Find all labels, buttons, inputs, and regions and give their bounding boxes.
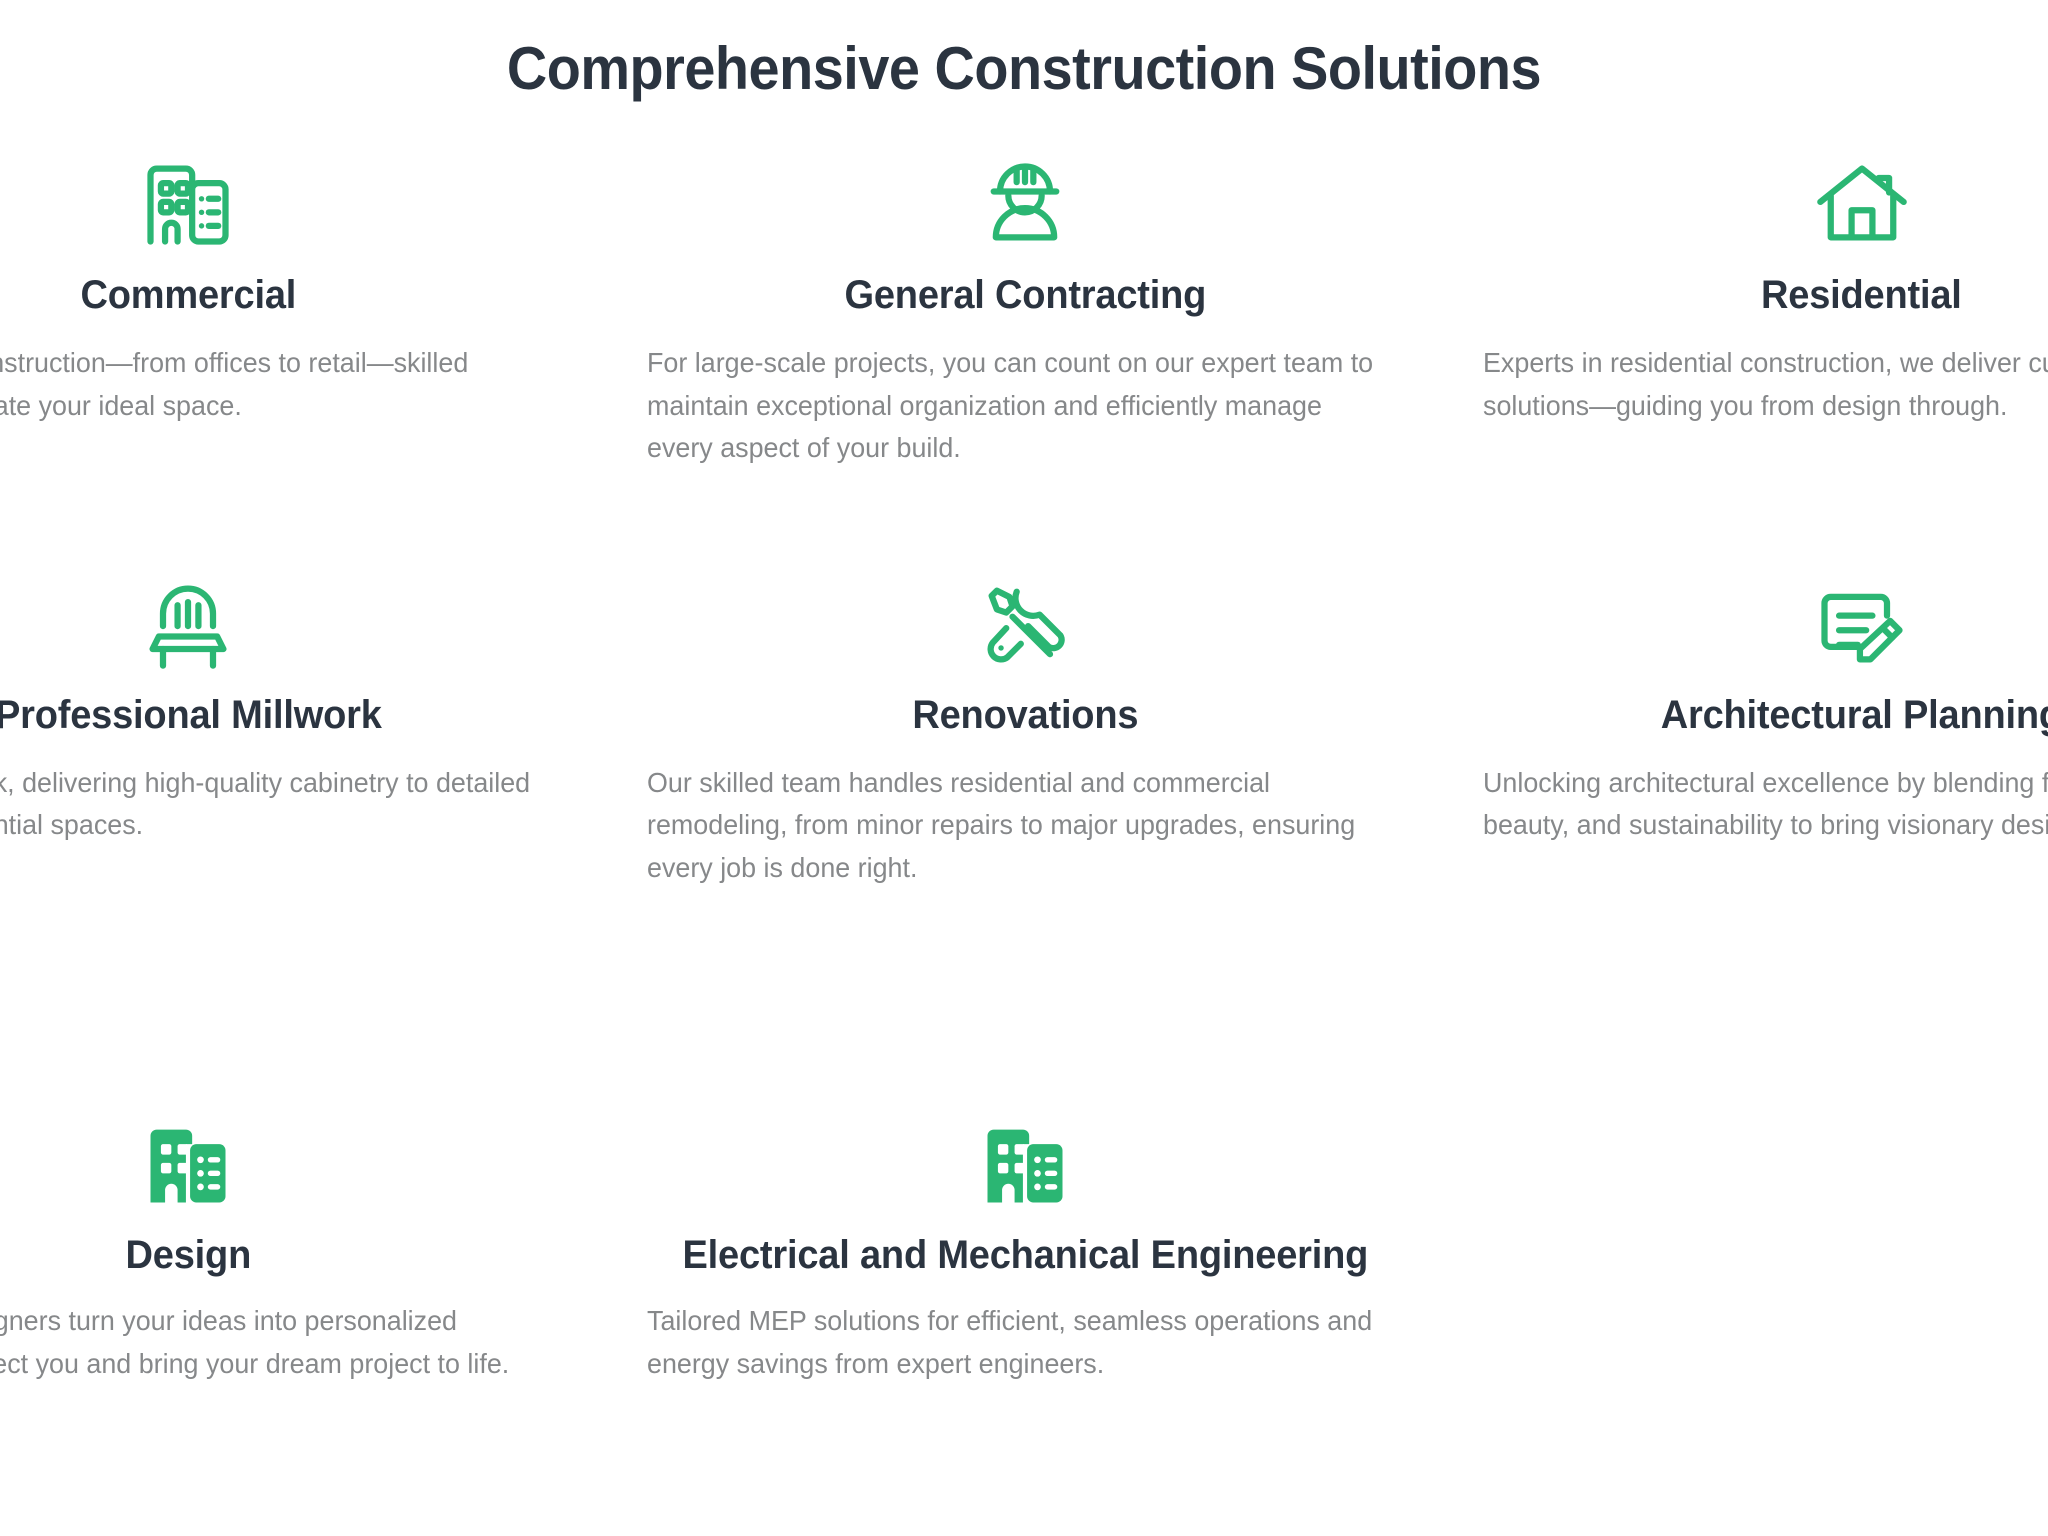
service-card-renovations[interactable]: Renovations Our skilled team handles res… — [607, 570, 1444, 890]
document-pencil-icon — [1483, 570, 2048, 678]
service-title: Commercial — [0, 272, 548, 318]
hard-hat-worker-icon — [647, 150, 1404, 258]
house-outline-icon — [1483, 150, 2048, 258]
wrench-screwdriver-icon — [647, 570, 1404, 678]
services-grid-row-three: Design Our expert designers turn your id… — [0, 1110, 2048, 1385]
service-description: For large-scale projects, you can count … — [647, 342, 1373, 470]
service-description: Custom millwork, delivering high-quality… — [0, 762, 536, 847]
service-card-architectural-planning[interactable]: Architectural Planning Unlocking archite… — [1443, 570, 2048, 890]
service-title: Renovations — [666, 692, 1385, 738]
service-title: Architectural Planning — [1502, 692, 2048, 738]
service-card-design[interactable]: Design Our expert designers turn your id… — [0, 1110, 607, 1385]
service-card-residential[interactable]: Residential Experts in residential const… — [1443, 150, 2048, 470]
service-title: Design — [0, 1232, 548, 1278]
bench-outline-icon — [0, 570, 567, 678]
service-description: Commercial construction—from offices to … — [0, 342, 536, 427]
service-description: Experts in residential construction, we … — [1483, 342, 2048, 427]
service-description: Our skilled team handles residential and… — [647, 762, 1373, 890]
service-card-general-contracting[interactable]: General Contracting For large-scale proj… — [607, 150, 1444, 470]
service-title: Residential — [1502, 272, 2048, 318]
service-card-professional-millwork[interactable]: Professional Millwork Custom millwork, d… — [0, 570, 607, 890]
services-section: Comprehensive Construction Solutions — [0, 0, 2048, 1536]
service-title: General Contracting — [666, 272, 1385, 318]
services-grid: Commercial Commercial construction—from … — [0, 150, 2048, 889]
service-title: Professional Millwork — [0, 692, 548, 738]
service-description: Unlocking architectural excellence by bl… — [1483, 762, 2048, 847]
service-card-commercial[interactable]: Commercial Commercial construction—from … — [0, 150, 607, 470]
buildings-filled-icon — [647, 1110, 1404, 1220]
page-title: Comprehensive Construction Solutions — [72, 36, 1977, 102]
buildings-outline-icon — [0, 150, 567, 258]
service-title: Electrical and Mechanical Engineering — [666, 1232, 1385, 1278]
buildings-filled-icon — [0, 1110, 567, 1220]
service-description: Tailored MEP solutions for efficient, se… — [647, 1300, 1373, 1385]
service-description: Our expert designers turn your ideas int… — [0, 1300, 536, 1385]
service-card-electrical-mechanical-engineering[interactable]: Electrical and Mechanical Engineering Ta… — [607, 1110, 1444, 1385]
